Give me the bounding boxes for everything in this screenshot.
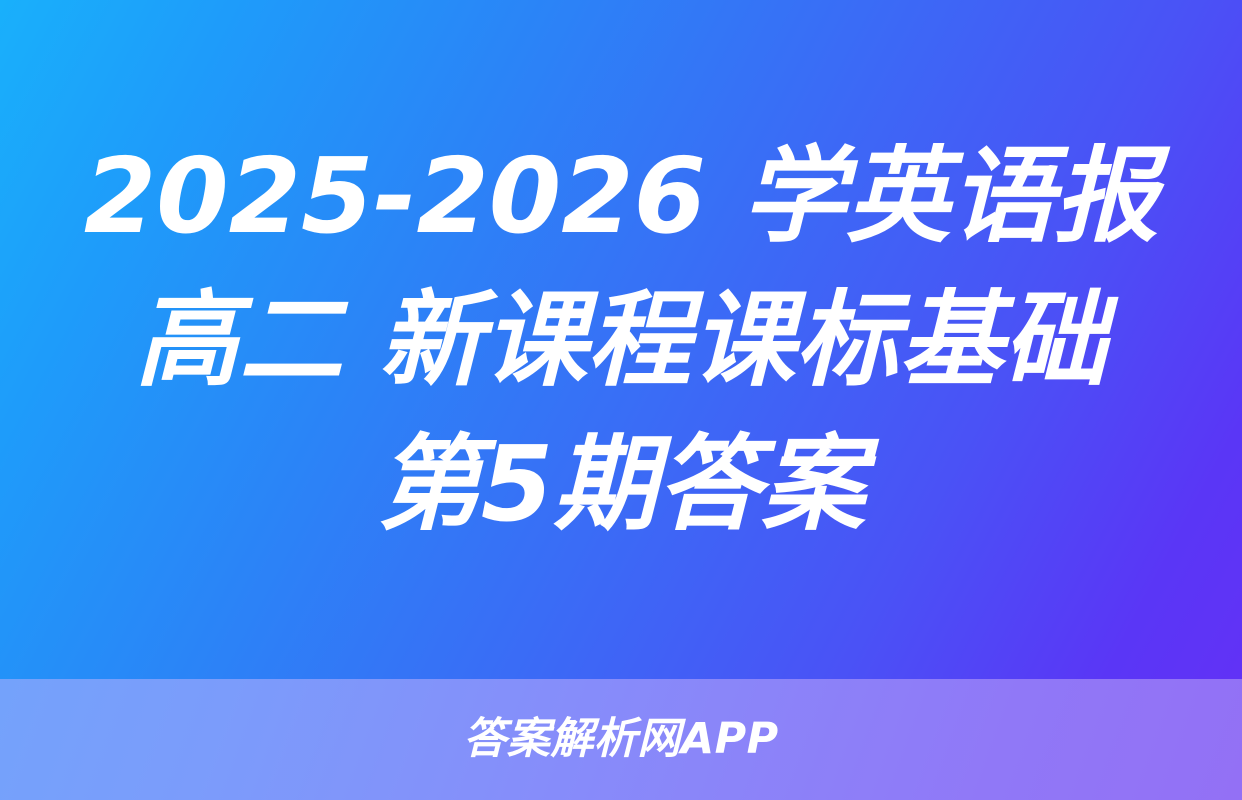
page-title: 2025-2026 学英语报 高二 新课程课标基础 第5期答案	[71, 124, 1171, 556]
app-brand-label: 答案解析网APP	[463, 718, 778, 761]
title-block: 2025-2026 学英语报 高二 新课程课标基础 第5期答案	[0, 0, 1242, 679]
poster-card: 2025-2026 学英语报 高二 新课程课标基础 第5期答案 答案解析网APP	[0, 0, 1242, 800]
footer-band: 答案解析网APP	[0, 679, 1242, 800]
